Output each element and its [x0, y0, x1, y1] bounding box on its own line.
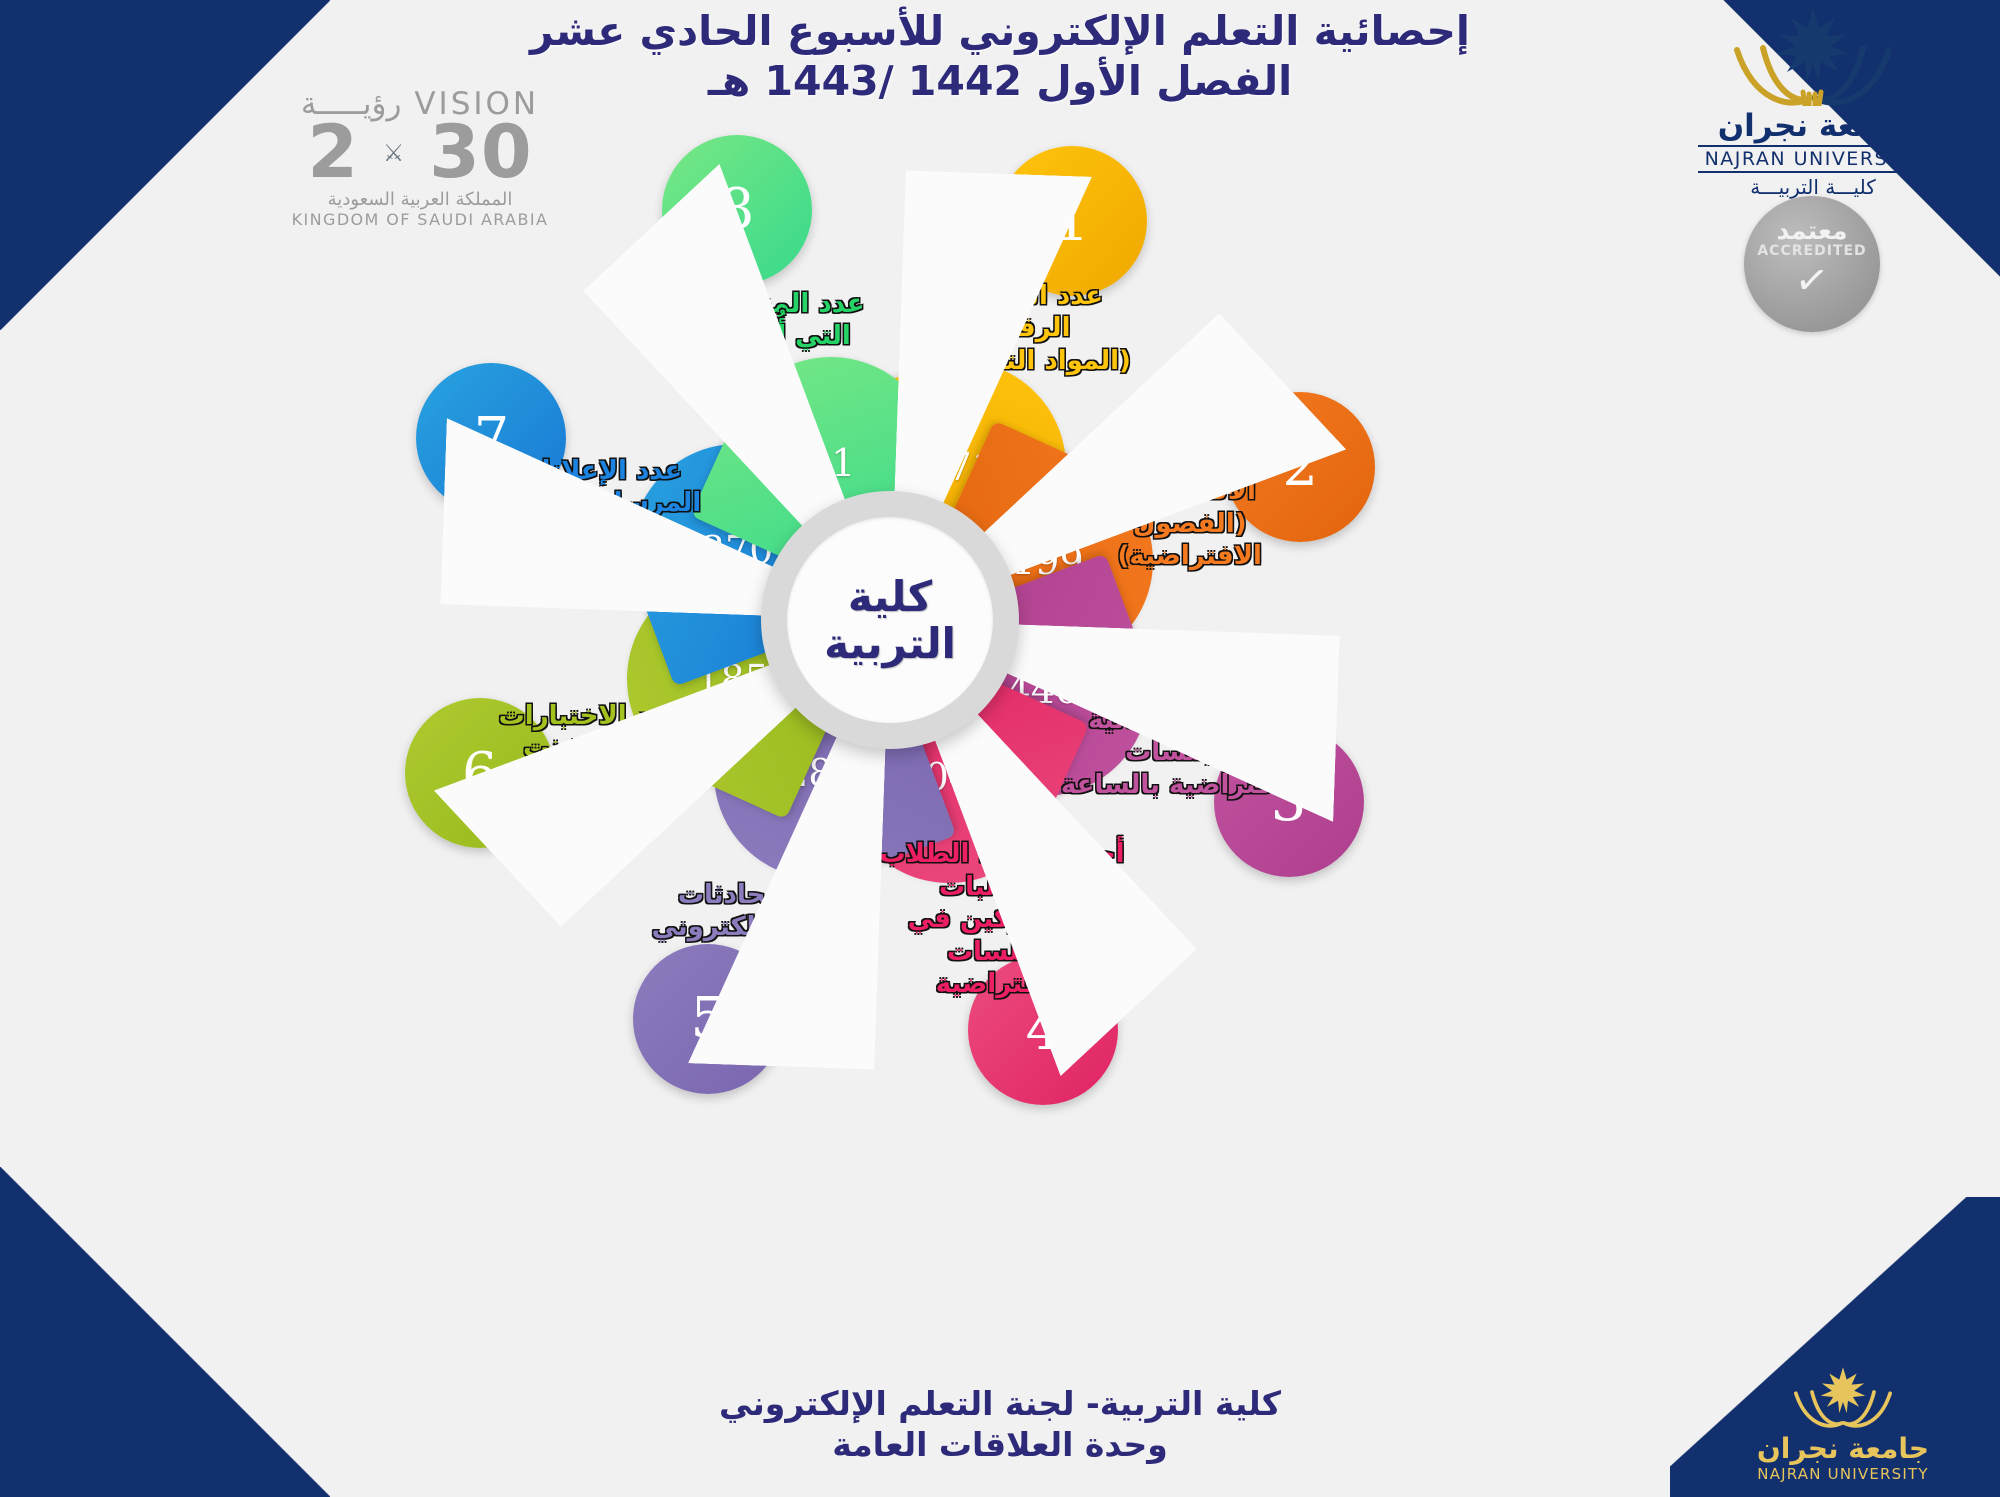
- corner-decoration-top-left: [0, 0, 330, 330]
- university-name-en: NAJRAN UNIVERSITY: [1698, 145, 1928, 173]
- title-line-1: إحصائية التعلم الإلكتروني للأسبوع الحادي…: [530, 7, 1470, 55]
- vision-dotring-icon: ⚔: [361, 120, 427, 186]
- check-mark-icon: ✓: [1793, 259, 1832, 303]
- bottom-university-name-en: NAJRAN UNIVERSITY: [1748, 1465, 1938, 1483]
- saudi-emblem-icon: ⚔: [383, 141, 406, 165]
- hub-line-2: التربية: [824, 620, 956, 667]
- accreditation-label-ar: معتمد: [1777, 218, 1848, 243]
- vision-year-left: 2: [307, 118, 359, 187]
- wheel-hub-inner: كلية التربية: [787, 517, 993, 723]
- accreditation-seal-icon: معتمد ACCREDITED ✓: [1744, 196, 1880, 332]
- footer-credits: كلية التربية- لجنة التعلم الإلكتروني وحد…: [550, 1383, 1450, 1466]
- bottom-university-logo: جامعة نجران NAJRAN UNIVERSITY: [1748, 1366, 1938, 1483]
- university-mark-icon: [1698, 6, 1928, 106]
- corner-decoration-bottom-left: [0, 1167, 330, 1497]
- accreditation-label-en: ACCREDITED: [1757, 243, 1866, 259]
- footer-line-2: وحدة العلاقات العامة: [550, 1424, 1450, 1465]
- university-logo: جامعة نجران NAJRAN UNIVERSITY كليـــة ال…: [1698, 6, 1928, 199]
- university-name-ar: جامعة نجران: [1698, 108, 1928, 144]
- bottom-university-mark-icon: [1783, 1366, 1903, 1428]
- bottom-university-name-ar: جامعة نجران: [1748, 1432, 1938, 1465]
- wheel-hub: كلية التربية: [761, 491, 1019, 749]
- statistics-wheel: 371199446304728018537091 12345678 عدد ال…: [440, 170, 1340, 1070]
- infographic-canvas: إحصائية التعلم الإلكتروني للأسبوع الحادي…: [0, 0, 2000, 1497]
- hub-line-1: كلية: [848, 573, 932, 620]
- footer-line-1: كلية التربية- لجنة التعلم الإلكتروني: [550, 1383, 1450, 1424]
